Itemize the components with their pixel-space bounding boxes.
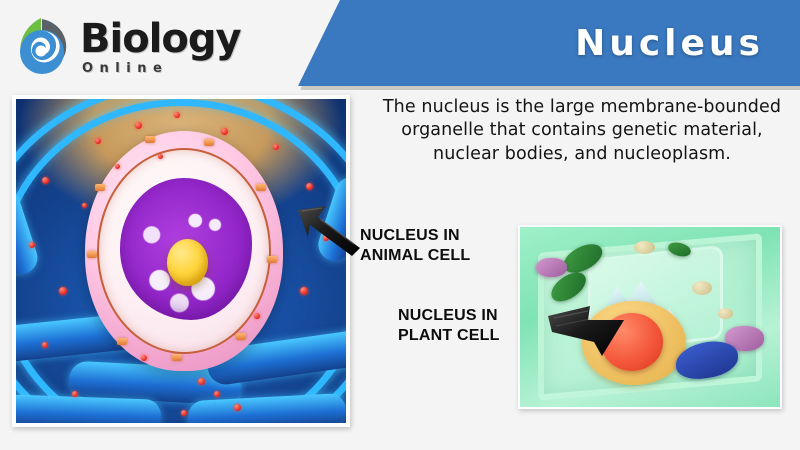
arrow-up-left-icon (296, 204, 362, 261)
page-header: Biology Online Nucleus (0, 0, 800, 95)
brand-name: Biology (80, 19, 241, 59)
animal-cell-callout-label: NUCLEUS IN ANIMAL CELL (360, 226, 470, 265)
description-text: The nucleus is the large membrane-bounde… (372, 96, 792, 166)
plant-cell-callout: NUCLEUS IN PLANT CELL (398, 306, 500, 345)
animal-cell-callout: NUCLEUS IN ANIMAL CELL (360, 226, 470, 265)
biology-online-swirl-logo-icon (14, 16, 72, 78)
brand-wordmark: Biology Online (80, 19, 241, 75)
title-banner: Nucleus (284, 0, 800, 86)
brand-subtitle: Online (82, 62, 241, 75)
plant-cell-callout-label: NUCLEUS IN PLANT CELL (398, 306, 500, 345)
arrow-right-down-icon (546, 304, 626, 363)
animal-cell-figure (12, 95, 350, 427)
page-title: Nucleus (575, 23, 800, 64)
brand-logo[interactable]: Biology Online (14, 13, 284, 81)
animal-cell-nucleus-illustration (16, 99, 346, 423)
